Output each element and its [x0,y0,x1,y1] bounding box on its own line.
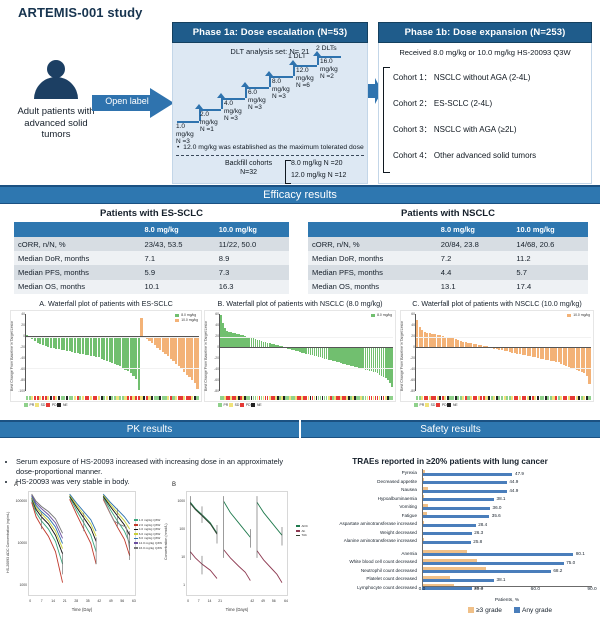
table-row: Median OS, months 10.1 16.3 [14,280,289,294]
backfill-item-2: 12.0 mg/kg N =12 [291,170,346,182]
row-value-10: 14/68, 20.6 [512,237,588,251]
mtd-note: • 12.0 mg/kg was established as the maxi… [177,144,364,151]
col-header-2: 10.0 mg/kg [215,222,289,237]
dose-step-6: 12.0 mg/kg N =6 [296,67,314,90]
waterfall-c-title: C. Waterfall plot of patients with NSCLC… [400,299,594,308]
col-header-0 [14,222,141,237]
pk-y-tick: 10000 [18,541,27,545]
row-value-8: 5.9 [141,265,215,279]
safety-row-track: 36.0 [422,503,592,512]
safety-bar-value: 36.0 [493,505,502,511]
poster-root: ARTEMIS-001 study Adult patients with ad… [0,0,600,600]
dlt-analysis-set: DLT analysis set: N= 21 [173,47,367,56]
cohort-item-2: Cohort 2： ES-SCLC (2-4L) [393,91,589,117]
nsclc-table-wrap: Patients with NSCLC 8.0 mg/kg 10.0 mg/kg… [308,208,588,294]
safety-row-label: Weight decreased [302,529,417,538]
safety-row: Alanine aminotransferase increased25.8 [302,537,598,546]
gridline [416,368,591,369]
gridline [220,368,393,369]
row-value-10: 11/22, 50.0 [215,237,289,251]
safety-row: Neutrophil count decreased68.2 [302,567,598,576]
safety-row-track: 47.9 [422,469,592,478]
safety-row: Aspartate aminotransferase increased28.4 [302,520,598,529]
pk-y-tick: 10 [181,555,185,559]
safety-bar-value: 47.9 [515,471,524,477]
safety-row-track: 25.8 [422,537,592,546]
safety-chart-title: TRAEs reported in ≥20% patients with lun… [302,457,598,466]
pk-panel-a-yticks: 100000100001000 [12,491,27,596]
waterfall-a-plot: Best Change From Baseline in Target Lesi… [10,310,202,402]
safety-bar-value: 75.0 [566,560,575,566]
row-value-10: 17.4 [512,280,588,294]
phase-1b-received: Received 8.0 mg/kg or 10.0 mg/kg HS-2009… [379,48,591,57]
divider [176,155,364,156]
y-tick: -100 [18,389,25,393]
table-header-row: 8.0 mg/kg 10.0 mg/kg [308,222,588,237]
row-value-8: 7.1 [141,251,215,265]
person-icon [28,60,84,100]
dose-step-1: 1.0 mg/kg N =3 [176,123,194,146]
cohort-item-1: Cohort 1： NSCLC without AGA (2-4L) [393,65,589,91]
waterfall-b-legend: 8.0 mg/kg [371,313,392,318]
safety-bar-value: 44.9 [509,479,518,485]
pk-banner: PK results [0,420,299,438]
safety-row-label: Neutrophil count decreased [302,567,417,576]
pk-panel-b-plot [186,491,288,596]
es-sclc-table: 8.0 mg/kg 10.0 mg/kg cORR, n/N, % 23/43,… [14,222,289,294]
col-header-2: 10.0 mg/kg [512,222,588,237]
safety-row: Hypoalbuminaemia38.1 [302,495,598,504]
table-row: Median DoR, months 7.1 8.9 [14,251,289,265]
safety-bar-value: 68.2 [553,568,562,574]
phase-1b-header: Phase 1b: Dose expansion (N=253) [378,22,592,43]
study-design-section: ARTEMIS-001 study Adult patients with ad… [0,0,600,185]
pk-y-tick: 1 [183,583,185,587]
safety-bar-value: 38.1 [497,577,506,583]
response-cell [196,396,198,400]
safety-row: Anemia80.1 [302,550,598,559]
safety-row: Platelet count decreased38.1 [302,575,598,584]
safety-bar-value: 28.4 [478,522,487,528]
waterfall-panel-a: A. Waterfall plot of patients with ES-SC… [10,299,202,407]
pk-panel-a-legend: 1.0 mg/kg Q3W2.0 mg/kg Q3W4.0 mg/kg Q3W6… [134,518,162,550]
row-value-8: 10.1 [141,280,215,294]
safety-row-label: Fatigue [302,512,417,521]
pk-y-tick: 100 [179,527,185,531]
gridline [26,337,199,338]
safety-rows: Pyrexia47.9Decreased appetite44.9Nausea4… [302,469,598,592]
nsclc-table-title: Patients with NSCLC [308,208,588,219]
waterfall-c-bars [416,314,591,391]
phase-1b-body: Received 8.0 mg/kg or 10.0 mg/kg HS-2009… [378,43,592,184]
response-cell [391,396,393,400]
waterfall-c-response-strip [416,396,591,400]
safety-banner: Safety results [301,420,600,438]
pk-panel-a-xlabel: Time (Day) [28,607,136,612]
safety-bar-anygrade [422,498,494,501]
safety-xticks: 0.030.060.090.0 [422,587,592,595]
waterfall-bar [588,347,590,384]
safety-bar-anygrade [422,532,472,535]
phase-1b-box: Phase 1b: Dose expansion (N=253) Receive… [378,22,592,184]
safety-row-track: 75.0 [422,558,592,567]
es-sclc-table-wrap: Patients with ES-SCLC 8.0 mg/kg 10.0 mg/… [14,208,289,294]
waterfall-bar [391,347,393,387]
waterfall-c-plot: Best Change From Baseline in Target Lesi… [400,310,594,402]
safety-bar-anygrade [422,553,573,556]
row-label: Median DoR, months [14,251,141,265]
safety-legend-entry: ≥3 grade [468,607,502,614]
col-header-0 [308,222,437,237]
dlt-2-label: 2 DLTs [316,45,337,52]
page-title: ARTEMIS-001 study [18,5,143,20]
pk-legend-entry: 16.0 mg/kg Q3W [134,546,162,551]
safety-row-label: Lymphocyte count decreased [302,584,417,593]
row-label: cORR, n/N, % [14,237,141,251]
waterfall-b-bars [220,314,393,391]
row-label: Median PFS, months [14,265,141,279]
safety-bar-value: 80.1 [576,551,585,557]
waterfall-a-foot-legend: PR SD PD NE [10,403,202,407]
waterfall-bar [196,336,198,389]
row-value-10: 7.3 [215,265,289,279]
row-value-8: 7.2 [437,251,513,265]
cohort-item-4: Cohort 4： Other advanced solid tumors [393,143,589,169]
waterfall-panel-b: B. Waterfall plot of patients with NSCLC… [204,299,396,407]
waterfall-a-bars [26,314,199,391]
pk-y-tick: 1000 [177,499,185,503]
safety-row-track: 44.9 [422,478,592,487]
legend-entry: 10.0 mg/kg [567,313,590,318]
safety-xlabel: Patients, % [422,598,592,603]
safety-bars: Pyrexia47.9Decreased appetite44.9Nausea4… [302,469,598,599]
patient-population: Adult patients with advanced solid tumor… [10,60,102,141]
pk-panel-a-letter: A [14,482,18,488]
row-label: Median PFS, months [308,265,437,279]
legend-entry: 8.0 mg/kg [371,313,392,318]
safety-row-label: Aspartate aminotransferase increased [302,520,417,529]
safety-row: White blood cell count decreased75.0 [302,558,598,567]
safety-row: Weight decreased26.3 [302,529,598,538]
bottom-banners: PK results Safety results [0,420,600,438]
safety-x-tick: 30.0 [474,587,483,592]
safety-bar-value: 44.9 [509,488,518,494]
efficacy-section: Patients with ES-SCLC 8.0 mg/kg 10.0 mg/… [0,204,600,420]
waterfall-a-legend: 8.0 mg/kg10.0 mg/kg [175,313,198,323]
waterfall-b-yticks: 6040200-20-40-60-80 [207,311,219,401]
phase-1a-box: Phase 1a: Dose escalation (N=53) DLT ana… [172,22,368,184]
pk-panel-a-plot [28,491,136,596]
safety-chart: TRAEs reported in ≥20% patients with lun… [302,457,598,621]
safety-yaxis [422,469,423,587]
safety-legend-entry: Any grade [514,607,552,614]
safety-bar-anygrade [422,473,512,476]
pk-panel-b-yticks: 1000100101 [170,491,185,596]
safety-legend: ≥3 gradeAny grade [422,607,598,614]
table-row: cORR, n/N, % 20/84, 23.8 14/68, 20.6 [308,237,588,251]
waterfall-a-title: A. Waterfall plot of patients with ES-SC… [10,299,202,308]
phase-1a-header: Phase 1a: Dose escalation (N=53) [172,22,368,43]
safety-row: Pyrexia47.9 [302,469,598,478]
safety-row-track: 68.2 [422,567,592,576]
row-value-8: 20/84, 23.8 [437,237,513,251]
safety-bar-anygrade [422,524,476,527]
cohort-list: Cohort 1： NSCLC without AGA (2-4L) Cohor… [393,65,589,169]
waterfall-bar [140,318,142,336]
safety-row-label: Platelet count decreased [302,575,417,584]
safety-bar-value: 26.3 [474,530,483,536]
safety-row: Vomiting36.0 [302,503,598,512]
row-value-8: 4.4 [437,265,513,279]
row-value-10: 16.3 [215,280,289,294]
backfill-items: 8.0 mg/kg N =20 12.0 mg/kg N =12 [291,158,346,182]
col-header-1: 8.0 mg/kg [437,222,513,237]
safety-bar-anygrade [422,490,507,493]
safety-row-track: 38.1 [422,495,592,504]
waterfall-a-response-strip [26,396,199,400]
safety-x-tick: 60.0 [531,587,540,592]
backfill-cohorts-label: Backfill cohorts N=32 [225,159,272,177]
safety-row: Nausea44.9 [302,486,598,495]
table-row: Median OS, months 13.1 17.4 [308,280,588,294]
col-header-1: 8.0 mg/kg [141,222,215,237]
gridline [220,337,393,338]
pk-panel-a-curves [29,492,135,595]
safety-row-track: 28.4 [422,520,592,529]
pk-panels: A HS-20093 ADC Concentration (ng/mL) 100… [4,482,314,620]
zero-line [220,347,393,348]
table-header-row: 8.0 mg/kg 10.0 mg/kg [14,222,289,237]
bottom-section: Serum exposure of HS-20093 increased wit… [0,438,600,621]
pk-legend-entry: 1.0 mg/kg Q3W [134,518,162,523]
safety-row-track: 35.6 [422,512,592,521]
dose-step-4: 6.0 mg/kg N =3 [248,89,266,112]
safety-row-label: Pyrexia [302,469,417,478]
waterfall-b-response-strip [220,396,393,400]
pk-y-tick: 100000 [16,499,27,503]
safety-row-label: Anemia [302,550,417,559]
safety-row-label: Decreased appetite [302,478,417,487]
open-label-arrow: Open label [92,88,174,118]
patient-caption: Adult patients with advanced solid tumor… [10,106,102,141]
phase-1a-body: DLT analysis set: N= 21 [172,43,368,184]
row-value-10: 5.7 [512,265,588,279]
safety-row-track: 38.1 [422,575,592,584]
safety-bar-anygrade [422,562,564,565]
safety-row-label: White blood cell count decreased [302,558,417,567]
cohort-brace [383,67,390,173]
nsclc-table: 8.0 mg/kg 10.0 mg/kg cORR, n/N, % 20/84,… [308,222,588,294]
pk-panel-b-curves [187,492,287,595]
safety-row-track: 80.1 [422,550,592,559]
safety-bar-value: 35.6 [492,513,501,519]
efficacy-banner: Efficacy results [0,185,600,204]
safety-row-track: 26.3 [422,529,592,538]
dose-step-2: 2.0 mg/kg N =1 [200,111,218,134]
waterfall-b-plot: Best Change From Baseline in Target Lesi… [204,310,396,402]
waterfall-c-foot-legend: PR SD PD NE [400,403,594,407]
zero-line [416,347,591,348]
dose-step-5: 8.0 mg/kg N =3 [272,78,290,101]
safety-bar-anygrade [422,507,490,510]
pk-panel-a: A HS-20093 ADC Concentration (ng/mL) 100… [4,482,162,618]
pk-panel-b-letter: B [172,482,176,488]
legend-entry: 10.0 mg/kg [175,318,198,323]
row-label: Median OS, months [308,280,437,294]
safety-bar-anygrade [422,541,471,544]
table-row: cORR, n/N, % 23/43, 53.5 11/22, 50.0 [14,237,289,251]
pk-panel-b: B Concentration (nmol/L) 1000100101 [162,482,314,618]
safety-bar-anygrade [422,515,489,518]
open-label-text: Open label [96,96,158,106]
waterfall-bar [138,336,140,390]
safety-x-tick: 0.0 [419,587,426,592]
gridline [416,337,591,338]
pk-y-tick: 1000 [19,583,27,587]
safety-row-label: Alanine aminotransferase increased [302,537,417,546]
cohort-item-3: Cohort 3： NSCLC with AGA (≥2L) [393,117,589,143]
dose-step-7: 16.0 mg/kg N =2 [320,58,338,81]
row-label: Median OS, months [14,280,141,294]
dose-step-3: 4.0 mg/kg N =3 [224,100,242,123]
pk-legend-entry: 12.0 mg/kg Q3W [134,541,162,546]
pk-panel-b-xlabel: Time (Days) [186,607,288,612]
safety-bar-anygrade [422,481,507,484]
waterfall-c-yticks: 6040200-20-40-60-80 [403,311,415,401]
safety-row: Fatigue35.6 [302,512,598,521]
safety-row: Decreased appetite44.9 [302,478,598,487]
table-row: Median PFS, months 4.4 5.7 [308,265,588,279]
waterfall-c-legend: 10.0 mg/kg [567,313,590,318]
safety-row-track: 44.9 [422,486,592,495]
waterfall-a-yticks: 40200-20-40-60-80-100 [13,311,25,401]
response-cell [588,396,590,400]
safety-row-label: Vomiting [302,503,417,512]
safety-bar-anygrade [422,570,551,573]
table-row: Median PFS, months 5.9 7.3 [14,265,289,279]
safety-bar-value: 25.8 [473,539,482,545]
safety-bar-anygrade [422,579,494,582]
safety-row-label: Nausea [302,486,417,495]
gridline [26,368,199,369]
safety-x-tick: 90.0 [587,587,596,592]
dlt-1-label: 1 DLT [288,53,306,60]
safety-bar-value: 38.1 [497,496,506,502]
row-value-8: 23/43, 53.5 [141,237,215,251]
waterfall-b-foot-legend: PR SD PD NE [204,403,396,407]
row-value-10: 8.9 [215,251,289,265]
backfill-item-1: 8.0 mg/kg N =20 [291,158,346,170]
waterfall-panel-c: C. Waterfall plot of patients with NSCLC… [400,299,594,407]
row-value-10: 11.2 [512,251,588,265]
es-sclc-table-title: Patients with ES-SCLC [14,208,289,219]
row-label: cORR, n/N, % [308,237,437,251]
row-value-8: 13.1 [437,280,513,294]
safety-row-label: Hypoalbuminaemia [302,495,417,504]
waterfall-plots-row: A. Waterfall plot of patients with ES-SC… [0,299,600,419]
table-row: Median DoR, months 7.2 11.2 [308,251,588,265]
waterfall-b-title: B. Waterfall plot of patients with NSCLC… [204,299,396,308]
pk-bullet-1: Serum exposure of HS-20093 increased wit… [16,457,296,476]
row-label: Median DoR, months [308,251,437,265]
